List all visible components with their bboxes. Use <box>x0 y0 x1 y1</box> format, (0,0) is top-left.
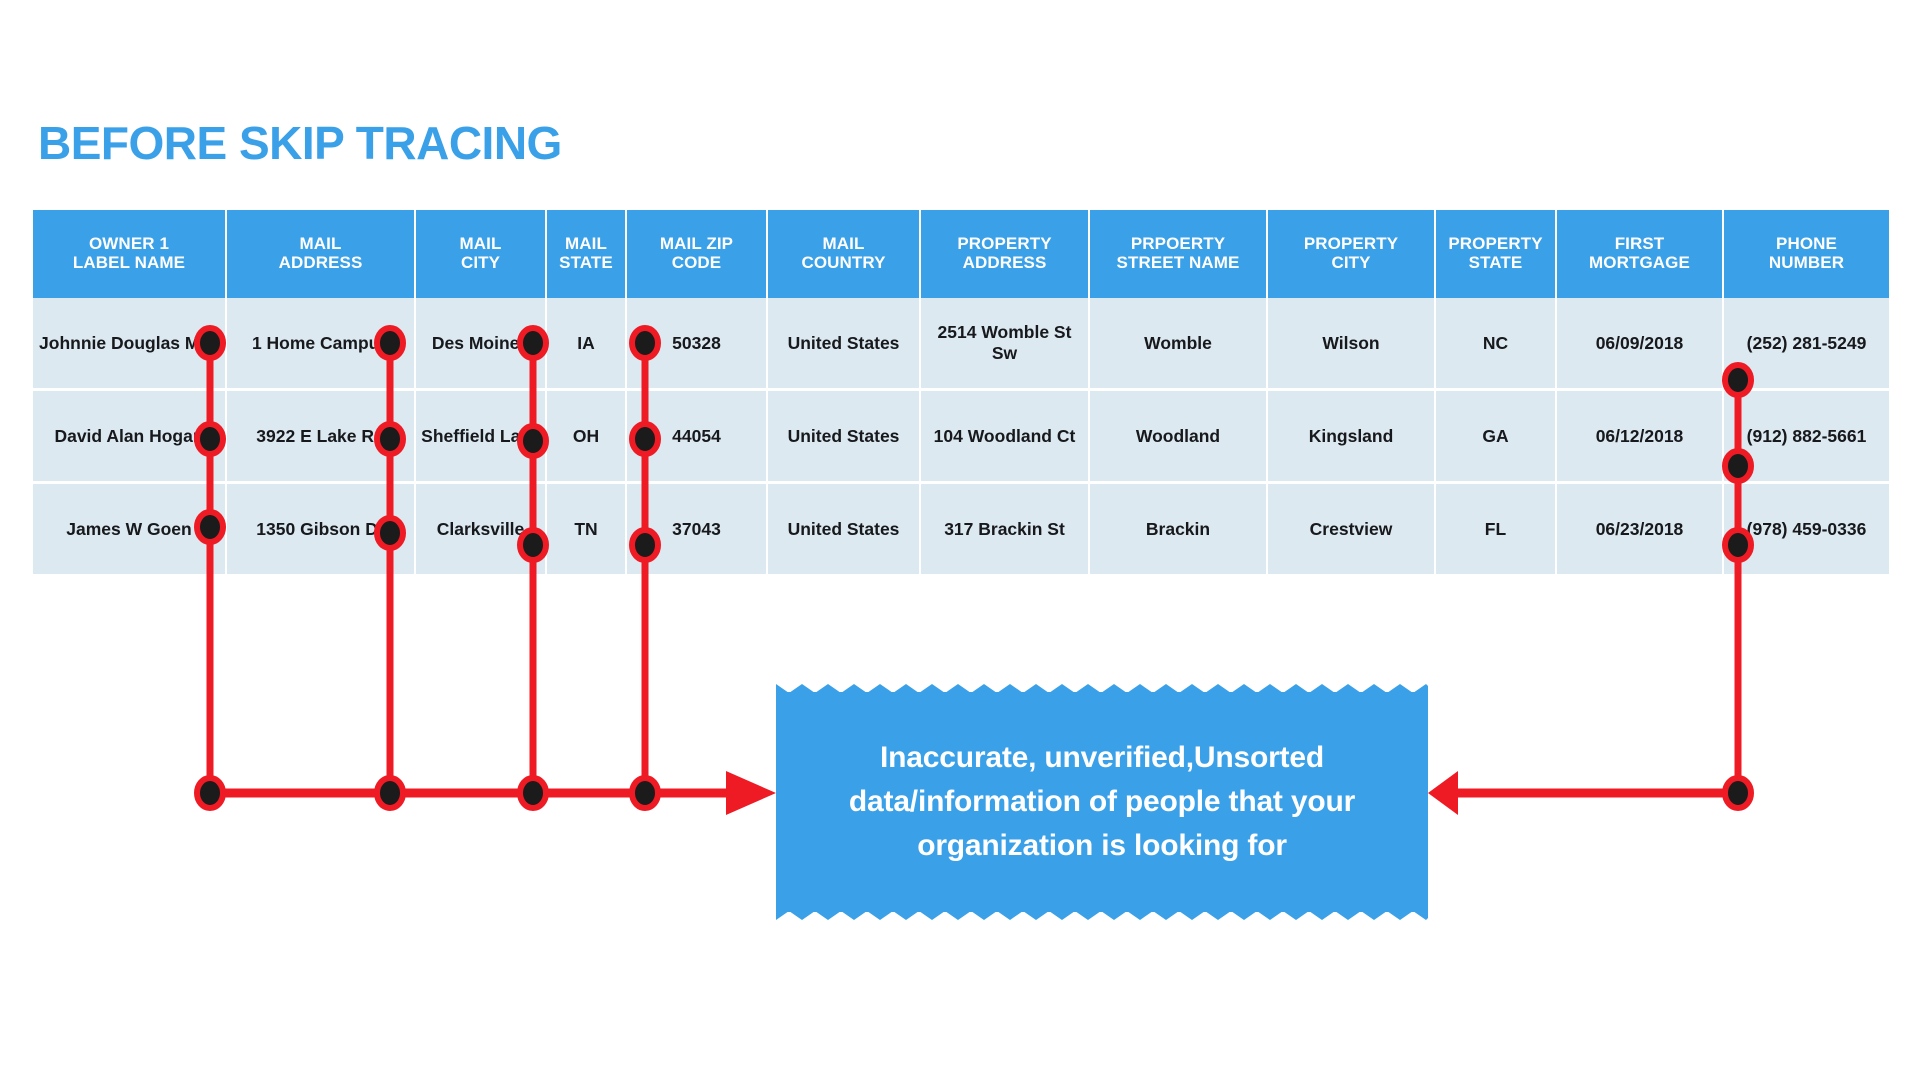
arrow-right-into-callout <box>726 771 776 815</box>
cell-property-city: Wilson <box>1267 298 1435 390</box>
cell-phone-number: (912) 882-5661 <box>1723 390 1889 483</box>
cell-owner-1-label-name: Johnnie Douglas May <box>33 298 226 390</box>
header-line-1: MAIL ZIP <box>631 234 762 253</box>
skip-tracing-table: OWNER 1 LABEL NAME MAIL ADDRESS MAIL CIT… <box>33 210 1889 574</box>
table-row: James W Goen 1350 Gibson Dr Clarksville … <box>33 483 1889 575</box>
column-header-property-city: PROPERTY CITY <box>1267 210 1435 298</box>
header-line-2: MORTGAGE <box>1561 253 1718 272</box>
arrow-left-into-callout <box>1428 771 1458 815</box>
header-line-1: FIRST <box>1561 234 1718 253</box>
cell-property-state: NC <box>1435 298 1556 390</box>
node-marker <box>632 778 658 808</box>
column-header-first-mortgage: FIRST MORTGAGE <box>1556 210 1723 298</box>
callout-text: Inaccurate, unverified,Unsorted data/inf… <box>798 736 1406 868</box>
cell-mail-city: Sheffield Lake <box>415 390 546 483</box>
node-marker <box>1725 778 1751 808</box>
cell-property-state: GA <box>1435 390 1556 483</box>
callout-body: Inaccurate, unverified,Unsorted data/inf… <box>776 692 1428 912</box>
cell-first-mortgage: 06/23/2018 <box>1556 483 1723 575</box>
header-line-2: NUMBER <box>1728 253 1885 272</box>
callout-zigzag-top-edge <box>776 678 1428 693</box>
cell-mail-state: TN <box>546 483 626 575</box>
column-header-mail-address: MAIL ADDRESS <box>226 210 415 298</box>
cell-mail-address: 1 Home Campus <box>226 298 415 390</box>
header-line-2: ADDRESS <box>925 253 1084 272</box>
cell-mail-country: United States <box>767 390 920 483</box>
header-line-2: LABEL NAME <box>37 253 221 272</box>
cell-mail-city: Clarksville <box>415 483 546 575</box>
header-line-1: PROPERTY <box>1440 234 1551 253</box>
cell-phone-number: (978) 459-0336 <box>1723 483 1889 575</box>
cell-property-city: Crestview <box>1267 483 1435 575</box>
header-line-1: MAIL <box>420 234 541 253</box>
table-header-row: OWNER 1 LABEL NAME MAIL ADDRESS MAIL CIT… <box>33 210 1889 298</box>
cell-prpoerty-street-name: Womble <box>1089 298 1267 390</box>
header-line-1: MAIL <box>231 234 410 253</box>
node-marker <box>197 778 223 808</box>
column-header-phone-number: PHONE NUMBER <box>1723 210 1889 298</box>
table-row: Johnnie Douglas May 1 Home Campus Des Mo… <box>33 298 1889 390</box>
column-header-mail-city: MAIL CITY <box>415 210 546 298</box>
column-header-property-address: PROPERTY ADDRESS <box>920 210 1089 298</box>
cell-property-city: Kingsland <box>1267 390 1435 483</box>
header-line-2: STREET NAME <box>1094 253 1262 272</box>
page-title: BEFORE SKIP TRACING <box>38 120 562 166</box>
callout-box: Inaccurate, unverified,Unsorted data/inf… <box>776 678 1428 926</box>
cell-mail-zip-code: 44054 <box>626 390 767 483</box>
cell-property-state: FL <box>1435 483 1556 575</box>
cell-mail-zip-code: 50328 <box>626 298 767 390</box>
cell-phone-number: (252) 281-5249 <box>1723 298 1889 390</box>
cell-prpoerty-street-name: Woodland <box>1089 390 1267 483</box>
cell-first-mortgage: 06/09/2018 <box>1556 298 1723 390</box>
column-header-prpoerty-street-name: PRPOERTY STREET NAME <box>1089 210 1267 298</box>
cell-prpoerty-street-name: Brackin <box>1089 483 1267 575</box>
cell-property-address: 317 Brackin St <box>920 483 1089 575</box>
callout-zigzag-bottom-edge <box>776 911 1428 926</box>
slide-canvas: BEFORE SKIP TRACING OWNER 1 LABEL NAME M… <box>0 0 1920 1080</box>
cell-mail-state: OH <box>546 390 626 483</box>
cell-owner-1-label-name: James W Goen <box>33 483 226 575</box>
column-header-owner-1-label-name: OWNER 1 LABEL NAME <box>33 210 226 298</box>
cell-mail-country: United States <box>767 483 920 575</box>
header-line-2: COUNTRY <box>772 253 915 272</box>
cell-mail-state: IA <box>546 298 626 390</box>
header-line-1: MAIL <box>551 234 621 253</box>
cell-owner-1-label-name: David Alan Hogan <box>33 390 226 483</box>
column-header-mail-zip-code: MAIL ZIP CODE <box>626 210 767 298</box>
column-header-mail-country: MAIL COUNTRY <box>767 210 920 298</box>
node-marker <box>520 778 546 808</box>
header-line-1: OWNER 1 <box>37 234 221 253</box>
header-line-1: MAIL <box>772 234 915 253</box>
cell-property-address: 104 Woodland Ct <box>920 390 1089 483</box>
cell-mail-address: 1350 Gibson Dr <box>226 483 415 575</box>
table-row: David Alan Hogan 3922 E Lake Rd Sheffiel… <box>33 390 1889 483</box>
cell-first-mortgage: 06/12/2018 <box>1556 390 1723 483</box>
column-header-mail-state: MAIL STATE <box>546 210 626 298</box>
cell-mail-country: United States <box>767 298 920 390</box>
header-line-2: ADDRESS <box>231 253 410 272</box>
column-header-property-state: PROPERTY STATE <box>1435 210 1556 298</box>
header-line-1: PROPERTY <box>925 234 1084 253</box>
cell-property-address: 2514 Womble St Sw <box>920 298 1089 390</box>
cell-mail-address: 3922 E Lake Rd <box>226 390 415 483</box>
cell-mail-city: Des Moines <box>415 298 546 390</box>
header-line-2: CITY <box>1272 253 1430 272</box>
header-line-1: PRPOERTY <box>1094 234 1262 253</box>
node-marker <box>377 778 403 808</box>
cell-mail-zip-code: 37043 <box>626 483 767 575</box>
header-line-1: PROPERTY <box>1272 234 1430 253</box>
data-table-container: OWNER 1 LABEL NAME MAIL ADDRESS MAIL CIT… <box>33 210 1889 574</box>
header-line-1: PHONE <box>1728 234 1885 253</box>
header-line-2: STATE <box>551 253 621 272</box>
header-line-2: CITY <box>420 253 541 272</box>
header-line-2: CODE <box>631 253 762 272</box>
header-line-2: STATE <box>1440 253 1551 272</box>
